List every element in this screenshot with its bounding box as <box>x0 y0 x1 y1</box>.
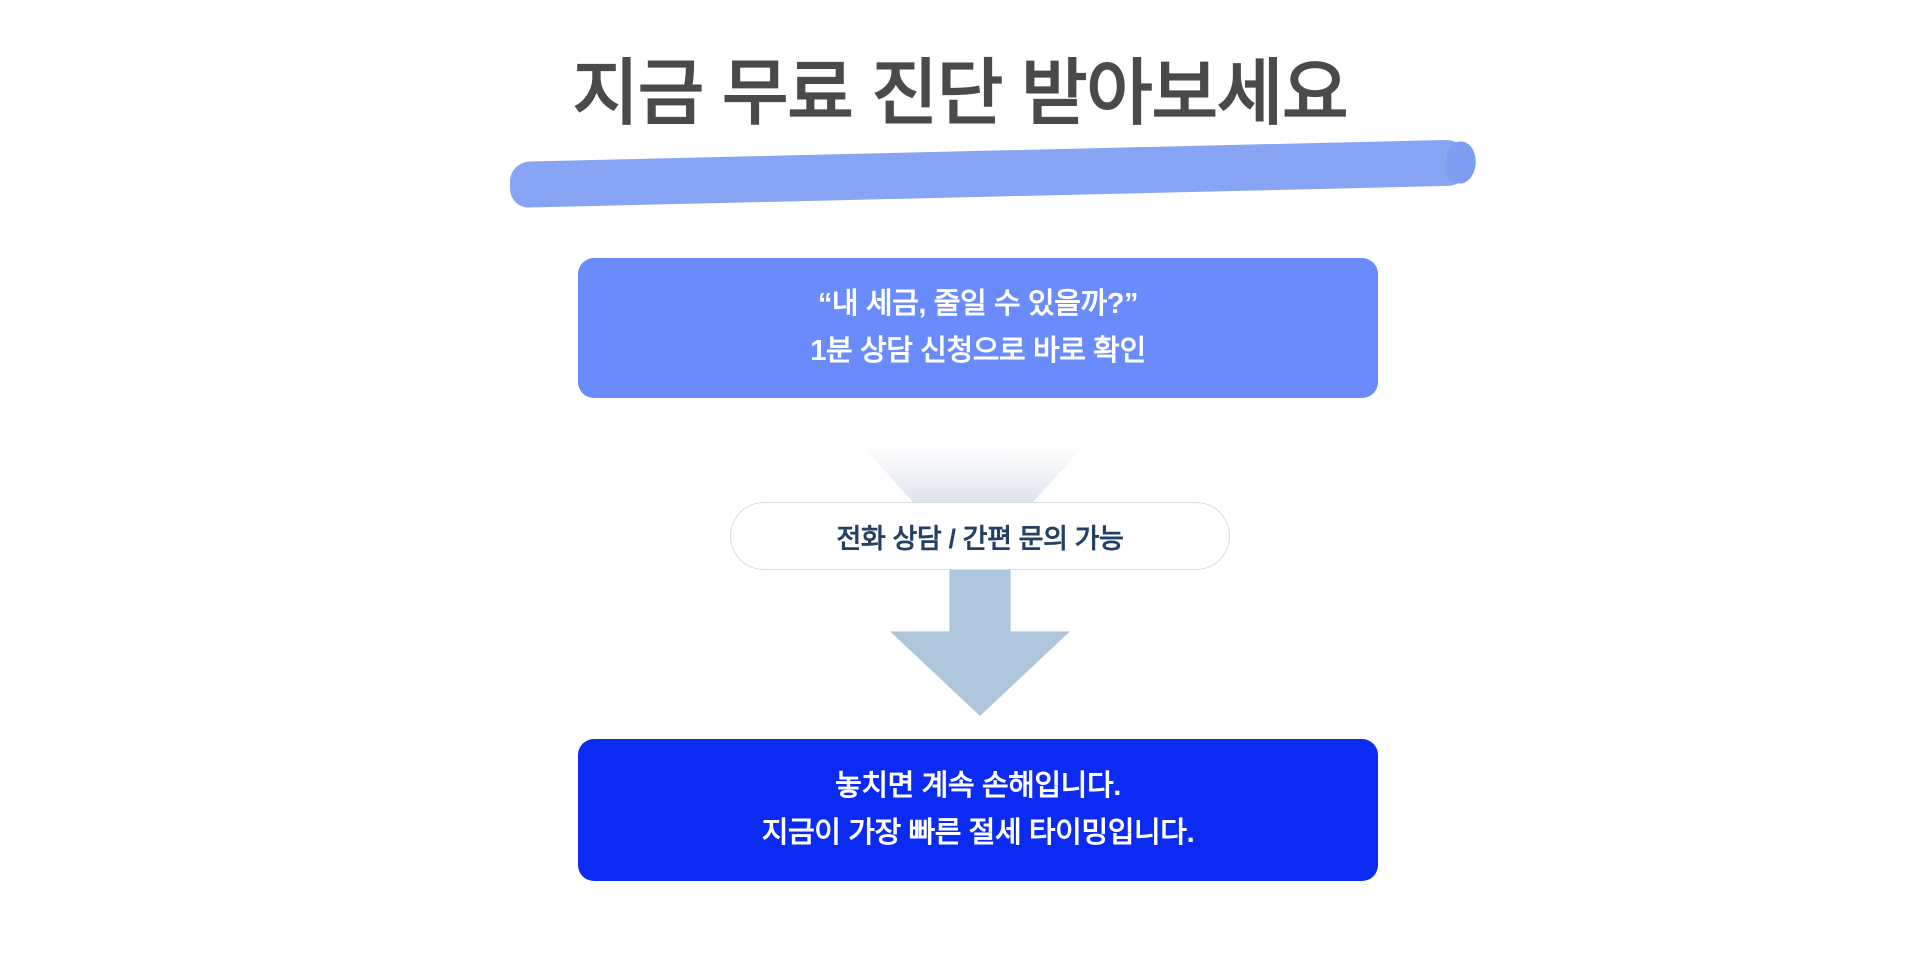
question-card-line-2: 1분 상담 신청으로 바로 확인 <box>810 328 1145 375</box>
arrow-down-icon <box>890 570 1070 716</box>
question-card-line-1: “내 세금, 줄일 수 있을까?” <box>818 281 1138 328</box>
contact-options-label: 전화 상담 / 간편 문의 가능 <box>836 517 1123 556</box>
question-card: “내 세금, 줄일 수 있을까?” 1분 상담 신청으로 바로 확인 <box>578 258 1378 398</box>
title-highlight-stroke <box>509 139 1470 208</box>
page-title: 지금 무료 진단 받아보세요 <box>0 46 1920 143</box>
page-title-block: 지금 무료 진단 받아보세요 <box>0 46 1920 196</box>
contact-options-pill[interactable]: 전화 상담 / 간편 문의 가능 <box>730 502 1230 570</box>
urgency-card-line-2: 지금이 가장 빠른 절세 타이밍입니다. <box>762 810 1195 857</box>
promo-flow-canvas: 지금 무료 진단 받아보세요 “내 세금, 줄일 수 있을까?” 1분 상담 신… <box>0 0 1920 969</box>
funnel-down-icon <box>866 450 1080 502</box>
urgency-card-line-1: 놓치면 계속 손해입니다. <box>835 763 1121 810</box>
urgency-card: 놓치면 계속 손해입니다. 지금이 가장 빠른 절세 타이밍입니다. <box>578 739 1378 881</box>
